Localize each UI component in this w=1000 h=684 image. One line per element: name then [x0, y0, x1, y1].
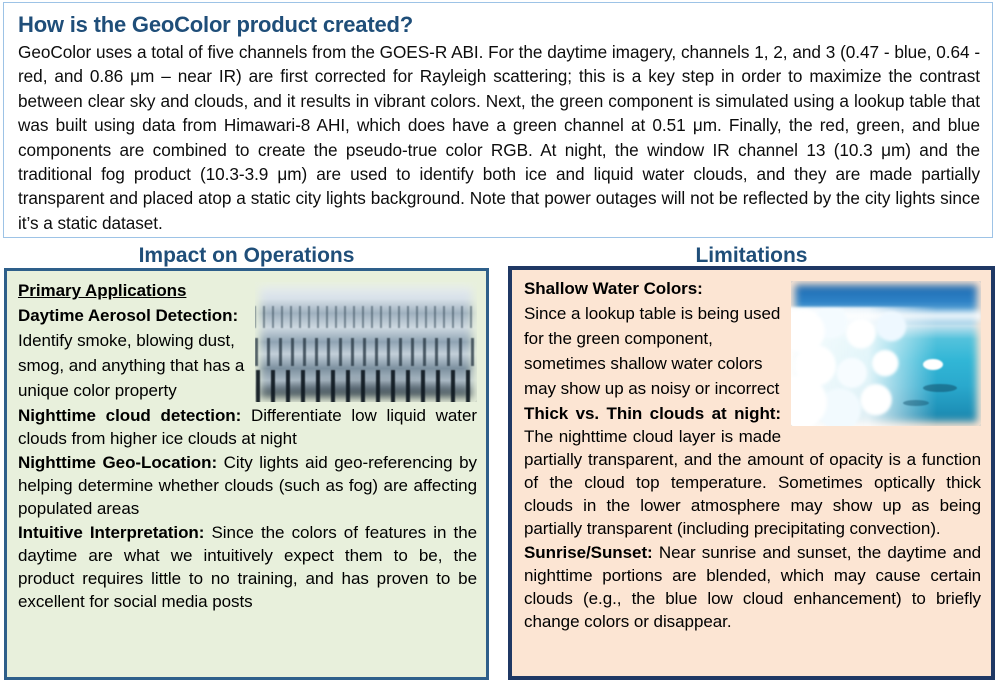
impact-item-2: Nighttime Geo-Location: City lights aid … [18, 451, 477, 520]
section-heading-limitations: Limitations [508, 244, 995, 268]
tree-line-near-icon [255, 370, 477, 402]
impact-item-0-text: Identify smoke, blowing dust, smog, and … [18, 331, 244, 400]
impact-item-0-lead: Daytime Aerosol Detection: [18, 306, 238, 325]
section-heading-impact: Impact on Operations [4, 244, 489, 268]
reef-shadow-icon [923, 384, 957, 392]
slide-root: How is the GeoColor product created? Geo… [0, 0, 1000, 684]
limitation-item-0-text: Since a lookup table is being used for t… [524, 304, 780, 398]
limitation-item-1-lead: Thick vs. Thin clouds at night: [524, 404, 781, 423]
reef-shadow-secondary-icon [903, 400, 929, 406]
impact-item-3: Intuitive Interpretation: Since the colo… [18, 521, 477, 613]
foggy-forest-image [255, 282, 477, 402]
impact-item-2-lead: Nighttime Geo-Location: [18, 453, 217, 472]
overview-paragraph: GeoColor uses a total of five channels f… [18, 40, 980, 235]
limitation-item-2-lead: Sunrise/Sunset: [524, 543, 653, 562]
tree-line-mid-icon [255, 338, 477, 366]
limitation-item-2: Sunrise/Sunset: Near sunrise and sunset,… [524, 541, 981, 633]
overview-box: How is the GeoColor product created? Geo… [3, 2, 993, 238]
small-cloud-icon [923, 359, 943, 370]
impact-subtitle: Primary Applications [18, 281, 186, 300]
impact-item-1: Nighttime cloud detection: Differentiate… [18, 404, 477, 450]
impact-item-3-lead: Intuitive Interpretation: [18, 523, 204, 542]
impact-on-operations-panel: Primary Applications Daytime Aerosol Det… [4, 268, 489, 680]
page-title: How is the GeoColor product created? [18, 11, 980, 39]
limitation-item-1-text: The nighttime cloud layer is made partia… [524, 427, 981, 538]
clouds-over-shallow-water-image [791, 281, 981, 426]
limitations-panel: Shallow Water Colors: Since a lookup tab… [508, 266, 995, 680]
limitation-item-0-lead: Shallow Water Colors: [524, 279, 703, 298]
impact-item-1-lead: Nighttime cloud detection: [18, 406, 241, 425]
cloud-field-icon [791, 307, 937, 426]
tree-line-far-icon [255, 306, 477, 328]
